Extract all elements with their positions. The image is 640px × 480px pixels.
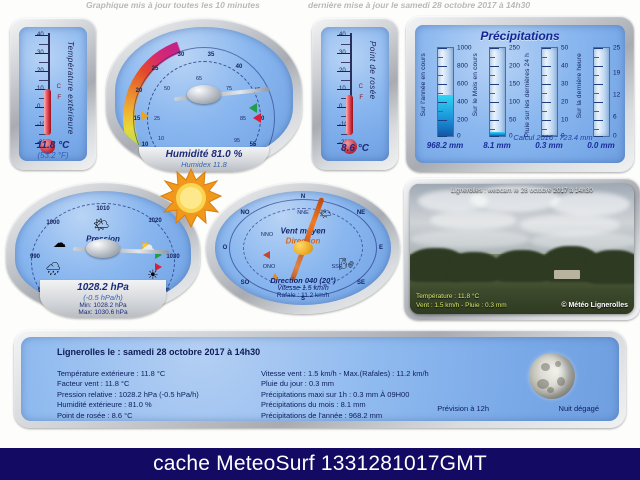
dewpoint-thermometer: 40 30 20 10 0 -10 -20 Point de rosée C F… bbox=[321, 27, 389, 161]
humidity-tick: 35 bbox=[208, 52, 215, 58]
precip-tube bbox=[541, 47, 558, 137]
precip-tube bbox=[437, 47, 454, 137]
summary-line: Pression relative : 1028.2 hPa (-0.5 hPa… bbox=[57, 390, 199, 400]
humidity-inner-tick: 95 bbox=[234, 138, 240, 144]
compass-ne: NE bbox=[357, 210, 365, 216]
precip-tick-label: 1000 bbox=[457, 45, 471, 52]
precip-tick-label: 40 bbox=[561, 63, 568, 70]
humidity-gauge: 10 15 20 25 30 35 40 45 50 55 10 25 50 6… bbox=[115, 27, 293, 161]
wind-title-line1: Vent moyen bbox=[280, 227, 325, 236]
precip-value: 8.1 mm bbox=[467, 141, 527, 150]
precip-tick-label: 19 bbox=[613, 70, 620, 77]
status-bar-text: cache MeteoSurf 1331281017GMT bbox=[153, 452, 487, 476]
precip-value: 968.2 mm bbox=[415, 141, 475, 150]
thermometer-mercury bbox=[44, 89, 51, 135]
precip-tick-label: 150 bbox=[509, 81, 520, 88]
compass-e: E bbox=[379, 245, 383, 251]
precip-tick-label: 6 bbox=[613, 114, 617, 121]
precip-tick-label: 50 bbox=[561, 45, 568, 52]
precip-tick-label: 200 bbox=[509, 63, 520, 70]
wind-readout: Direction 040 (20°) Vitesse 1.5 km/h Raf… bbox=[243, 274, 363, 302]
summary-heading: Lignerolles le : samedi 28 octobre 2017 … bbox=[57, 347, 260, 357]
unit-celsius-label: C bbox=[359, 84, 363, 90]
webcam-building bbox=[554, 270, 580, 279]
precip-gauge-label: Sur le Mois en cours bbox=[472, 53, 479, 116]
summary-line: Température extérieure : 11.8 °C bbox=[57, 369, 199, 379]
dewpoint-glass: 40 30 20 10 0 -10 -20 Point de rosée C F… bbox=[321, 27, 389, 161]
humidity-inner-tick: 10 bbox=[158, 136, 164, 142]
precip-tick-label: 20 bbox=[561, 99, 568, 106]
precip-value: 0.0 mm bbox=[571, 141, 625, 150]
pressure-tick: 1030 bbox=[166, 254, 179, 260]
humidity-inner-tick: 25 bbox=[154, 116, 160, 122]
humidity-value: Humidité 81.0 % bbox=[139, 149, 269, 160]
precip-tube bbox=[593, 47, 610, 137]
pressure-needle-hub bbox=[86, 239, 120, 258]
compass-sub-tick: NNE bbox=[297, 210, 309, 216]
humidity-current-marker bbox=[249, 103, 257, 113]
outdoor-thermometer: 40 30 20 10 0 -10 -20 Température extéri… bbox=[19, 27, 87, 161]
compass-sub-tick: NNO bbox=[261, 232, 273, 238]
compass-no: NO bbox=[241, 210, 250, 216]
precipitation-glass: Précipitations Sur l'année en cours 1000… bbox=[415, 25, 625, 163]
dewpoint-title: Point de rosée bbox=[368, 41, 377, 100]
precip-tick-label: 0 bbox=[457, 133, 461, 140]
pressure-max: Max: 1030.6 hPa bbox=[40, 309, 166, 316]
unit-celsius-label: C bbox=[57, 84, 61, 90]
precip-tube bbox=[489, 47, 506, 137]
precip-tick-label: 12 bbox=[613, 92, 620, 99]
pressure-max-marker bbox=[155, 263, 162, 271]
outdoor-temperature-value: 11.8 °C bbox=[19, 140, 87, 151]
status-bar: cache MeteoSurf 1331281017GMT bbox=[0, 448, 640, 480]
outdoor-temperature-panel[interactable]: 40 30 20 10 0 -10 -20 Température extéri… bbox=[10, 18, 96, 170]
header-right-text: dernière mise à jour le samedi 28 octobr… bbox=[308, 0, 530, 10]
header-strip: Graphique mis à jour toutes les 10 minut… bbox=[0, 0, 640, 13]
moon-phase-icon bbox=[529, 353, 575, 399]
pressure-value: 1028.2 hPa bbox=[40, 282, 166, 293]
summary-line: Précipitations maxi sur 1h : 0.3 mm À 09… bbox=[261, 390, 429, 400]
unit-fahrenheit-label: F bbox=[359, 95, 363, 101]
precip-gauge-label: Sur l'année en cours bbox=[420, 53, 427, 116]
dewpoint-panel[interactable]: 40 30 20 10 0 -10 -20 Point de rosée C F… bbox=[312, 18, 398, 170]
summary-line: Facteur vent : 11.8 °C bbox=[57, 379, 199, 389]
humidity-inner-tick: 50 bbox=[164, 86, 170, 92]
outdoor-temperature-glass: 40 30 20 10 0 -10 -20 Température extéri… bbox=[19, 27, 87, 161]
wind-speed-value: Vitesse 1.5 km/h bbox=[243, 285, 363, 292]
forecast-label: Prévision à 12h bbox=[437, 404, 489, 413]
pressure-min: Min: 1028.2 hPa bbox=[40, 302, 166, 309]
summary-line: Point de rosée : 8.6 °C bbox=[57, 411, 199, 421]
humidity-tick: 25 bbox=[152, 66, 159, 72]
precip-tick-label: 250 bbox=[509, 45, 520, 52]
summary-line: Pluie du jour : 0.3 mm bbox=[261, 379, 429, 389]
summary-line: Précipitations de l'année : 968.2 mm bbox=[261, 411, 429, 421]
unit-fahrenheit-label: F bbox=[57, 95, 61, 101]
webcam-watermark: © Météo Lignerolles bbox=[561, 302, 628, 309]
webcam-info-line2: Vent : 1.5 km/h - Pluie : 0.3 mm bbox=[416, 301, 507, 310]
precip-tick-label: 100 bbox=[509, 99, 520, 106]
cloud-sun-icon: 🌤 bbox=[93, 217, 110, 233]
precip-gauge-label: Sur la dernière heure bbox=[576, 53, 583, 118]
pressure-readout-plate: 1028.2 hPa (-0.5 hPa/h) Min: 1028.2 hPa … bbox=[40, 280, 166, 318]
precip-tick-label: 50 bbox=[509, 117, 516, 124]
compass-o: O bbox=[223, 245, 228, 251]
precipitation-title: Précipitations bbox=[415, 29, 625, 43]
humidity-min-marker bbox=[141, 111, 149, 121]
sun-icon: 🌤 bbox=[319, 209, 332, 220]
precip-tick-label: 200 bbox=[457, 117, 468, 124]
webcam-info-line1: Température : 11.8 °C bbox=[416, 292, 507, 301]
humidity-max-marker bbox=[253, 113, 261, 123]
summary-left-column: Température extérieure : 11.8 °C Facteur… bbox=[57, 369, 199, 421]
precip-gauge-label: Pluie sur les dernières 24 h bbox=[524, 53, 531, 137]
summary-glass: Lignerolles le : samedi 28 octobre 2017 … bbox=[21, 337, 619, 421]
wind-min-marker bbox=[263, 251, 270, 259]
forecast-text: Nuit dégagé bbox=[559, 404, 599, 413]
precip-calc-note: Calcul 2016 : 723.4 mm bbox=[463, 133, 625, 142]
dewpoint-value: 8.6 °C bbox=[321, 143, 389, 154]
precip-tick-label: 400 bbox=[457, 99, 468, 106]
summary-line: Précipitations du mois : 8.1 mm bbox=[261, 400, 429, 410]
header-left-text: Graphique mis à jour toutes les 10 minut… bbox=[86, 0, 260, 10]
webcam-image[interactable]: Lignerolles : webcam le 28 octobre 2017 … bbox=[410, 184, 634, 314]
pressure-tick: 990 bbox=[30, 254, 40, 260]
thermometer-mercury bbox=[346, 95, 353, 135]
humidity-inner-tick: 85 bbox=[240, 116, 246, 122]
outdoor-temperature-fahrenheit: (53.2 °F) bbox=[19, 151, 87, 160]
humidity-tick: 30 bbox=[178, 52, 185, 58]
pressure-tick: 1000 bbox=[46, 220, 59, 226]
webcam-panel[interactable]: Lignerolles : webcam le 28 octobre 2017 … bbox=[404, 178, 640, 320]
wind-gust-value: Rafale : 11.2 km/h bbox=[243, 292, 363, 299]
summary-line: Vitesse vent : 1.5 km/h - Max.(Rafales) … bbox=[261, 369, 429, 379]
weather-dashboard: Graphique mis à jour toutes les 10 minut… bbox=[0, 0, 640, 480]
humidity-gauge-glass: 10 15 20 25 30 35 40 45 50 55 10 25 50 6… bbox=[115, 27, 293, 161]
humidity-tick: 40 bbox=[236, 64, 243, 70]
wind-direction-value: Direction 040 (20°) bbox=[243, 276, 363, 285]
webcam-info: Température : 11.8 °C Vent : 1.5 km/h - … bbox=[416, 292, 507, 310]
cloud-icon: ☁ bbox=[53, 235, 66, 251]
summary-line: Humidité extérieure : 81.0 % bbox=[57, 400, 199, 410]
precip-tick-label: 800 bbox=[457, 63, 468, 70]
compass-n: N bbox=[301, 194, 305, 200]
precip-value: 0.3 mm bbox=[519, 141, 579, 150]
compass-sub-tick: ONO bbox=[263, 264, 276, 270]
humidity-tick: 15 bbox=[134, 116, 141, 122]
precip-tick-label: 30 bbox=[561, 81, 568, 88]
pressure-tick: 1010 bbox=[96, 206, 109, 212]
humidity-inner-tick: 65 bbox=[196, 76, 202, 82]
humidity-needle-hub bbox=[187, 85, 221, 104]
humidity-gauge-panel[interactable]: 10 15 20 25 30 35 40 45 50 55 10 25 50 6… bbox=[106, 18, 302, 170]
precipitation-panel[interactable]: Précipitations Sur l'année en cours 1000… bbox=[406, 16, 634, 172]
wind-gauge-panel[interactable]: N NE E SE S SO O NO NNE NNO ONO SSE Vent… bbox=[206, 182, 400, 314]
webcam-header-text: Lignerolles : webcam le 28 octobre 2017 … bbox=[410, 187, 634, 194]
thermometer-title: Température extérieure bbox=[66, 41, 75, 135]
summary-right-column: Vitesse vent : 1.5 km/h - Max.(Rafales) … bbox=[261, 369, 429, 421]
summary-panel[interactable]: Lignerolles le : samedi 28 octobre 2017 … bbox=[14, 330, 626, 428]
wind-blow-icon: 🌬 bbox=[339, 257, 354, 271]
humidity-tick: 20 bbox=[136, 88, 143, 94]
pressure-trend: (-0.5 hPa/h) bbox=[40, 293, 166, 302]
sun-ornament-icon bbox=[158, 168, 224, 228]
rain-cloud-icon: 🌧 bbox=[45, 261, 62, 277]
precip-tick-label: 600 bbox=[457, 81, 468, 88]
wind-needle-hub bbox=[293, 241, 313, 255]
precip-tick-label: 10 bbox=[561, 117, 568, 124]
precip-tick-label: 25 bbox=[613, 45, 620, 52]
